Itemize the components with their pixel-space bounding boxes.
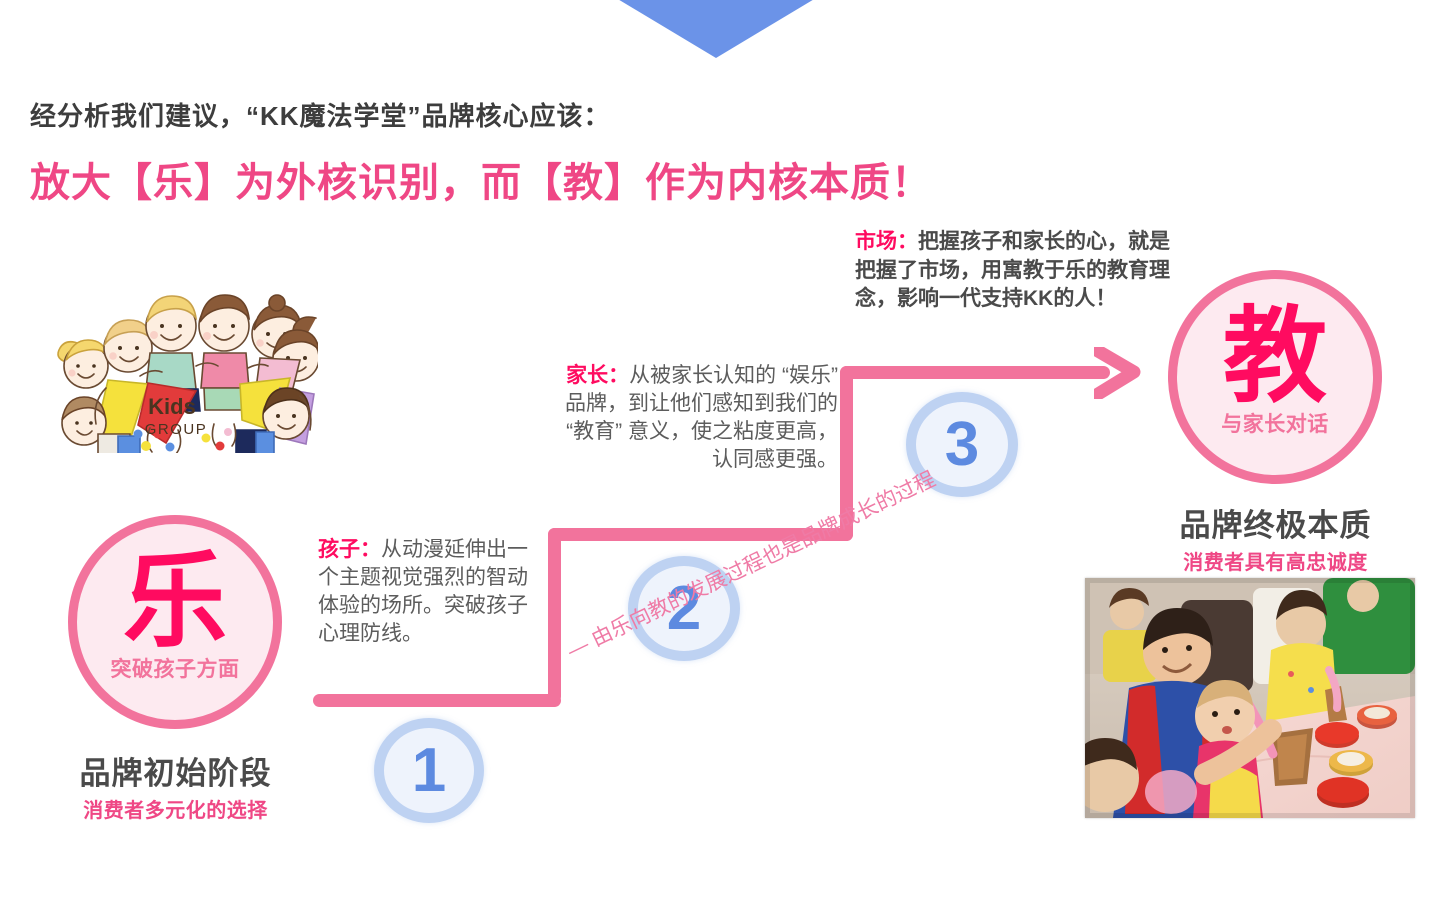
- stage-le-character: 乐: [123, 555, 227, 651]
- stage-jiao-caption-main: 品牌终极本质: [1128, 500, 1423, 545]
- stage-jiao-character: 教: [1223, 310, 1327, 406]
- step-number-1-label: 1: [412, 735, 446, 806]
- stage-le-caption-main: 品牌初始阶段: [33, 748, 318, 793]
- note-parent-label: 家长: [566, 364, 608, 387]
- logo-wordmark-line2: GROUP: [145, 421, 208, 438]
- slide-canvas: 经分析我们建议，“KK魔法学堂”品牌核心应该： 放大【乐】为外核识别，而【教】作…: [0, 0, 1440, 900]
- stage-circle-le[interactable]: 乐 突破孩子方面: [68, 515, 282, 729]
- note-parent: 家长：从被家长认知的 “娱乐” 品牌，到让他们感知到我们的 “教育” 意义，使之…: [548, 362, 838, 474]
- note-market-separator: ：: [897, 230, 918, 253]
- logo-wordmark-line1: Kids: [148, 394, 196, 419]
- stage-circle-jiao[interactable]: 教 与家长对话: [1168, 270, 1382, 484]
- activity-photo: [1085, 578, 1415, 818]
- stage-jiao-caption-sub: 消费者具有高忠诚度: [1128, 546, 1423, 575]
- slide-kicker: 经分析我们建议，“KK魔法学堂”品牌核心应该：: [30, 96, 611, 133]
- arrow-segment-1-vertical: [548, 528, 561, 703]
- note-parent-separator: ：: [608, 364, 629, 387]
- stage-le-subtitle: 突破孩子方面: [111, 653, 240, 683]
- chevron-down-icon: [616, 0, 816, 58]
- note-market-label: 市场: [855, 230, 897, 253]
- arrow-segment-3-horizontal: [840, 366, 1110, 379]
- note-child-label: 孩子: [318, 538, 360, 561]
- arrow-segment-1-horizontal: [313, 694, 561, 707]
- stage-jiao-caption: 品牌终极本质 消费者具有高忠诚度: [1128, 500, 1423, 575]
- arrow-head-icon: [1094, 347, 1156, 399]
- note-child-separator: ：: [360, 538, 381, 561]
- stage-jiao-subtitle: 与家长对话: [1221, 408, 1329, 438]
- note-market: 市场：把握孩子和家长的心，就是把握了市场，用寓教于乐的教育理念，影响一代支持KK…: [855, 228, 1185, 314]
- note-child: 孩子：从动漫延伸出一个主题视觉强烈的智动体验的场所。突破孩子心理防线。: [318, 536, 546, 648]
- stage-le-caption-sub: 消费者多元化的选择: [33, 794, 318, 823]
- step-number-1[interactable]: 1: [374, 718, 484, 823]
- slide-headline: 放大【乐】为外核识别，而【教】作为内核本质！: [30, 150, 932, 208]
- stage-le-caption: 品牌初始阶段 消费者多元化的选择: [33, 748, 318, 823]
- kids-group-logo: Kids GROUP: [28, 248, 318, 453]
